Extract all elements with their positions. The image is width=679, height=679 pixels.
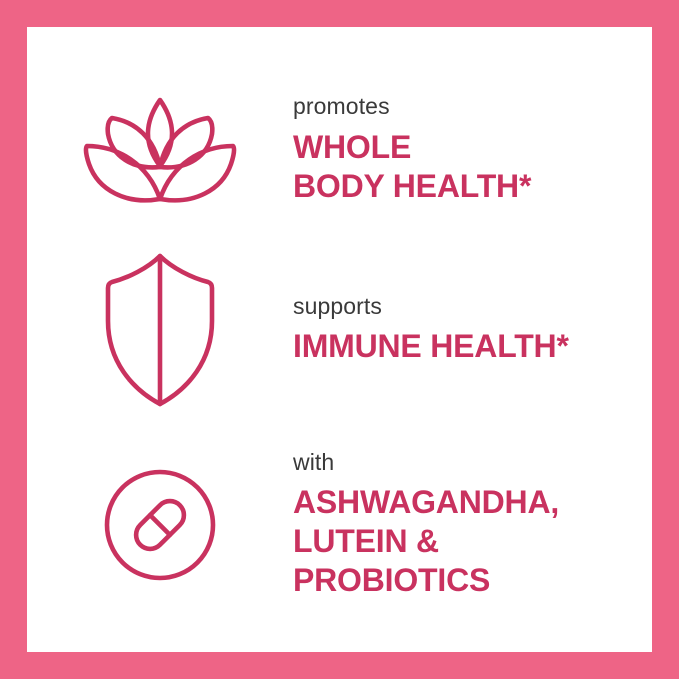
benefits-card: promotes WHOLE BODY HEALTH* supports IMM… — [0, 0, 679, 679]
feature-row-ingredients: with ASHWAGANDHA, LUTEIN & PROBIOTICS — [27, 432, 652, 617]
eyebrow-supports: supports — [293, 293, 652, 319]
pill-in-circle-icon — [102, 467, 218, 583]
shield-icon-cell — [27, 251, 293, 409]
lotus-flower-icon-cell — [27, 94, 293, 206]
eyebrow-promotes: promotes — [293, 93, 652, 119]
immune-health-text: supports IMMUNE HEALTH* — [293, 293, 652, 366]
feature-row-whole-body-health: promotes WHOLE BODY HEALTH* — [27, 62, 652, 237]
feature-row-immune-health: supports IMMUNE HEALTH* — [27, 242, 652, 417]
headline-lutein: LUTEIN & — [293, 522, 652, 561]
eyebrow-with: with — [293, 449, 652, 475]
headline-probiotics: PROBIOTICS — [293, 561, 652, 600]
headline-immune-health: IMMUNE HEALTH* — [293, 327, 652, 366]
lotus-flower-icon — [82, 94, 238, 206]
pill-in-circle-icon-cell — [27, 467, 293, 583]
ingredients-text: with ASHWAGANDHA, LUTEIN & PROBIOTICS — [293, 449, 652, 601]
whole-body-health-text: promotes WHOLE BODY HEALTH* — [293, 93, 652, 206]
headline-whole: WHOLE — [293, 128, 652, 167]
shield-icon — [104, 251, 216, 409]
benefits-panel: promotes WHOLE BODY HEALTH* supports IMM… — [27, 27, 652, 652]
headline-ashwagandha: ASHWAGANDHA, — [293, 483, 652, 522]
headline-body-health: BODY HEALTH* — [293, 167, 652, 206]
